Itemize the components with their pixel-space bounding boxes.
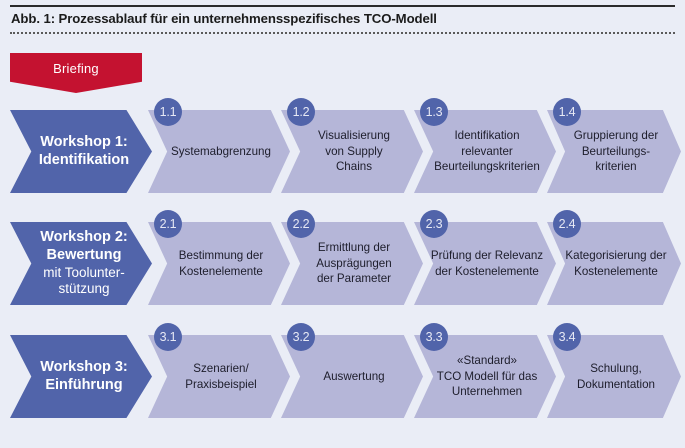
- step-badge-3-2: 3.2: [287, 323, 315, 351]
- step-3-2-text: Auswertung: [294, 369, 413, 384]
- step-2-2-line3: der Parameter: [294, 271, 413, 286]
- step-2-3-line2: der Kostenelemente: [427, 264, 546, 279]
- step-2-3-line1: Prüfung der Relevanz: [427, 248, 546, 263]
- step-1-4-line2: Beurteilungs-: [560, 144, 673, 159]
- workshop-header-1: Workshop 1: Identifikation: [10, 110, 152, 193]
- step-2-2-text: Ermittlung der Ausprägungen der Paramete…: [294, 240, 413, 286]
- step-badge-2-4: 2.4: [553, 210, 581, 238]
- step-badge-1-3: 1.3: [420, 98, 448, 126]
- step-2-4-text: Kategorisierung der Kostenelemente: [560, 248, 673, 279]
- step-1-3-line3: Beurteilungskriterien: [427, 159, 546, 174]
- step-badge-3-3: 3.3: [420, 323, 448, 351]
- step-2-2-line2: Ausprägungen: [294, 256, 413, 271]
- step-3-3-line3: Unternehmen: [427, 384, 546, 399]
- workshop-header-3-text: Workshop 3: Einführung: [25, 359, 143, 394]
- step-2-1-line2: Kostenelemente: [161, 264, 280, 279]
- top-divider: [10, 5, 675, 7]
- step-1-1-line1: Systemabgrenzung: [161, 144, 280, 159]
- step-3-3-line1: «Standard»: [427, 353, 546, 368]
- step-2-3-text: Prüfung der Relevanz der Kostenelemente: [427, 248, 546, 279]
- process-row-3: Workshop 3: Einführung Szenarien/ Praxis…: [0, 335, 685, 418]
- step-3-2-line1: Auswertung: [294, 369, 413, 384]
- step-1-4-line1: Gruppierung der: [560, 128, 673, 143]
- workshop-1-title-line2: Identifikation: [25, 152, 143, 170]
- step-badge-3-4: 3.4: [553, 323, 581, 351]
- workshop-2-subtitle-line1: mit Toolunter-: [25, 265, 143, 281]
- step-3-3-line2: TCO Modell für das: [427, 369, 546, 384]
- workshop-header-2-text: Workshop 2: Bewertung mit Toolunter- stü…: [25, 229, 143, 297]
- workshop-2-subtitle-line2: stützung: [25, 281, 143, 297]
- step-badge-2-2: 2.2: [287, 210, 315, 238]
- briefing-label: Briefing: [10, 61, 142, 76]
- step-2-4-line2: Kostenelemente: [560, 264, 673, 279]
- step-2-1-text: Bestimmung der Kostenelemente: [161, 248, 280, 279]
- step-badge-2-3: 2.3: [420, 210, 448, 238]
- step-3-4-line2: Dokumentation: [560, 377, 673, 392]
- step-1-2-text: Visualisierung von Supply Chains: [294, 128, 413, 174]
- step-3-4-line1: Schulung,: [560, 361, 673, 376]
- step-3-1-text: Szenarien/ Praxisbeispiel: [161, 361, 280, 392]
- step-2-2-line1: Ermittlung der: [294, 240, 413, 255]
- process-row-2: Workshop 2: Bewertung mit Toolunter- stü…: [0, 222, 685, 305]
- step-badge-1-2: 1.2: [287, 98, 315, 126]
- step-badge-1-4: 1.4: [553, 98, 581, 126]
- step-1-3-text: Identifikation relevanter Beurteilungskr…: [427, 128, 546, 174]
- step-badge-2-1: 2.1: [154, 210, 182, 238]
- workshop-2-title-line2: Bewertung: [25, 247, 143, 265]
- workshop-header-2: Workshop 2: Bewertung mit Toolunter- stü…: [10, 222, 152, 305]
- workshop-header-1-text: Workshop 1: Identifikation: [25, 134, 143, 169]
- figure-canvas: Abb. 1: Prozessablauf für ein unternehme…: [0, 0, 685, 448]
- step-1-2-line1: Visualisierung: [294, 128, 413, 143]
- step-1-3-line2: relevanter: [427, 144, 546, 159]
- step-3-1-line2: Praxisbeispiel: [161, 377, 280, 392]
- step-3-3-text: «Standard» TCO Modell für das Unternehme…: [427, 353, 546, 399]
- workshop-2-title-line1: Workshop 2:: [25, 229, 143, 247]
- step-badge-1-1: 1.1: [154, 98, 182, 126]
- step-1-2-line3: Chains: [294, 159, 413, 174]
- step-1-3-line1: Identifikation: [427, 128, 546, 143]
- title-dotted-divider: [10, 32, 675, 34]
- step-3-1-line1: Szenarien/: [161, 361, 280, 376]
- step-1-4-text: Gruppierung der Beurteilungs- kriterien: [560, 128, 673, 174]
- workshop-1-title-line1: Workshop 1:: [25, 134, 143, 152]
- process-row-1: Workshop 1: Identifikation Systemabgrenz…: [0, 110, 685, 193]
- step-badge-3-1: 3.1: [154, 323, 182, 351]
- step-1-4-line3: kriterien: [560, 159, 673, 174]
- step-3-4-text: Schulung, Dokumentation: [560, 361, 673, 392]
- step-1-2-line2: von Supply: [294, 144, 413, 159]
- step-1-1-text: Systemabgrenzung: [161, 144, 280, 159]
- workshop-header-3: Workshop 3: Einführung: [10, 335, 152, 418]
- step-2-1-line1: Bestimmung der: [161, 248, 280, 263]
- workshop-3-title-line1: Workshop 3:: [25, 359, 143, 377]
- workshop-3-title-line2: Einführung: [25, 377, 143, 395]
- briefing-banner: Briefing: [10, 53, 142, 93]
- step-2-4-line1: Kategorisierung der: [560, 248, 673, 263]
- figure-title: Abb. 1: Prozessablauf für ein unternehme…: [11, 11, 671, 26]
